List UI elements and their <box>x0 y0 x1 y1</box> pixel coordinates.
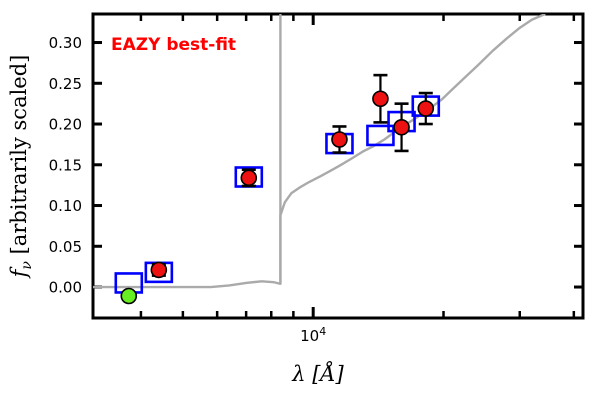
data-point <box>332 132 347 147</box>
sed-plot-canvas: 0.000.050.100.150.200.250.30104EAZY best… <box>0 0 600 400</box>
y-tick-label: 0.30 <box>49 34 82 52</box>
data-point <box>394 120 409 135</box>
y-tick-label: 0.25 <box>49 75 82 93</box>
data-point <box>373 91 388 106</box>
y-tick-label: 0.05 <box>49 238 82 256</box>
y-tick-label: 0.15 <box>49 156 82 174</box>
data-point <box>418 101 433 116</box>
y-tick-label: 0.10 <box>49 197 82 215</box>
eazy-best-fit-annotation: EAZY best-fit <box>111 35 236 55</box>
y-tick-label: 0.20 <box>49 116 82 134</box>
data-point <box>241 170 256 185</box>
x-tick-label: 104 <box>300 325 326 345</box>
y-tick-label: 0.00 <box>49 279 82 297</box>
y-axis-label: fν [arbitrarily scaled] <box>7 55 35 280</box>
data-point <box>121 288 136 303</box>
sed-figure: 0.000.050.100.150.200.250.30104EAZY best… <box>0 0 600 400</box>
spectrum-tail <box>543 14 545 15</box>
data-point <box>151 262 166 277</box>
x-axis-label: λ [Å] <box>291 361 344 386</box>
